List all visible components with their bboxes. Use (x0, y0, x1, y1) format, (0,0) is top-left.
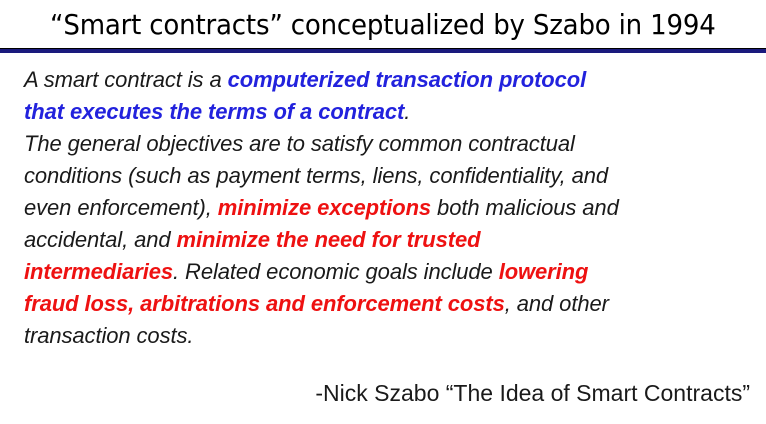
body-text: both malicious and (431, 195, 619, 220)
body-line: conditions (such as payment terms, liens… (24, 160, 752, 192)
body-text: A smart contract is a (24, 67, 228, 92)
body-line: intermediaries. Related economic goals i… (24, 256, 752, 288)
emphasized-text-red: intermediaries (24, 259, 173, 284)
body-line: The general objectives are to satisfy co… (24, 128, 752, 160)
emphasized-text-red: lowering (499, 259, 589, 284)
slide-title-block: “Smart contracts” conceptualized by Szab… (0, 0, 766, 50)
emphasized-text-red: minimize the need for trusted (177, 227, 481, 252)
body-line: transaction costs. (24, 320, 752, 352)
body-text: even enforcement), (24, 195, 218, 220)
attribution-block: -Nick Szabo “The Idea of Smart Contracts… (0, 378, 766, 408)
body-line: accidental, and minimize the need for tr… (24, 224, 752, 256)
body-text: conditions (such as payment terms, liens… (24, 163, 608, 188)
body-line: fraud loss, arbitrations and enforcement… (24, 288, 752, 320)
emphasized-text-blue: that executes the terms of a contract (24, 99, 404, 124)
body-text: . Related economic goals include (173, 259, 499, 284)
body-line: even enforcement), minimize exceptions b… (24, 192, 752, 224)
emphasized-text-red: minimize exceptions (218, 195, 431, 220)
body-line: A smart contract is a computerized trans… (24, 64, 752, 96)
body-text: transaction costs. (24, 323, 193, 348)
page-title: “Smart contracts” conceptualized by Szab… (50, 8, 716, 42)
body-text-block: A smart contract is a computerized trans… (24, 64, 752, 352)
emphasized-text-blue: computerized transaction protocol (228, 67, 587, 92)
body-line: that executes the terms of a contract. (24, 96, 752, 128)
emphasized-text-red: fraud loss, arbitrations and enforcement… (24, 291, 505, 316)
slide-root: “Smart contracts” conceptualized by Szab… (0, 0, 766, 424)
attribution-text: -Nick Szabo “The Idea of Smart Contracts… (0, 378, 750, 408)
body-text: , and other (505, 291, 609, 316)
body-text: . (404, 99, 410, 124)
title-divider-rule (0, 48, 766, 53)
body-text: The general objectives are to satisfy co… (24, 131, 575, 156)
body-text: accidental, and (24, 227, 177, 252)
